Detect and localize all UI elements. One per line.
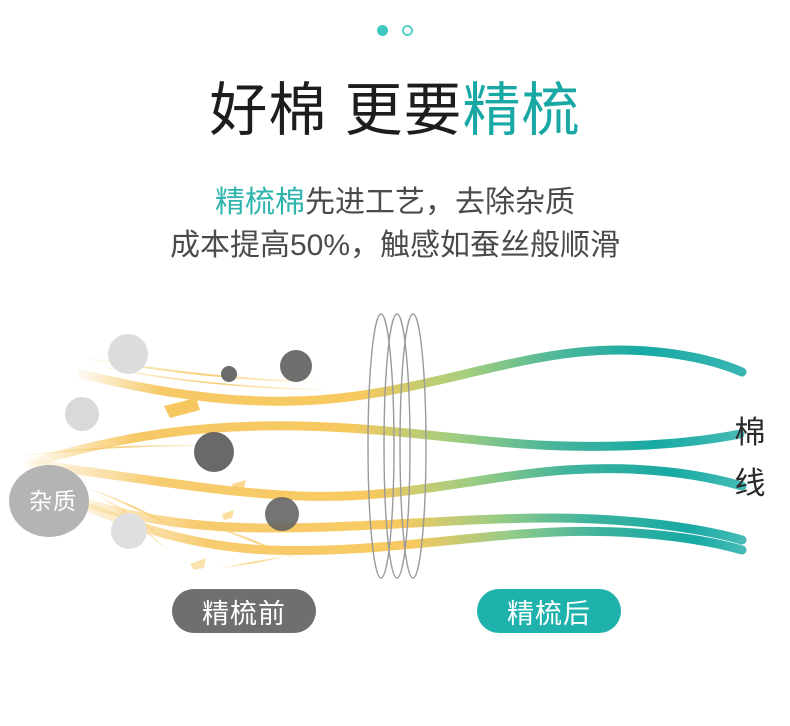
- impurity-dot-light-1: [108, 334, 148, 374]
- combing-ring-1: [368, 314, 394, 578]
- page-title-plain: 好棉 更要: [209, 78, 462, 143]
- cotton-thread-label: 棉 线: [728, 407, 772, 509]
- impurity-dot-light-2: [65, 397, 99, 431]
- label-before-combing: 精梳前: [172, 589, 316, 633]
- fiber-fleck-4: [190, 558, 206, 570]
- carousel-pagination[interactable]: [0, 25, 790, 36]
- carousel-dot-2[interactable]: [402, 25, 413, 36]
- page-title-accent: 精梳: [463, 78, 581, 143]
- page-subtitle: 精梳棉先进工艺，去除杂质 成本提高50%，触感如蚕丝般顺滑: [0, 181, 790, 267]
- fiber-fleck-3: [222, 510, 234, 520]
- impurity-dot-light-3: [111, 513, 147, 549]
- impurity-dot-dark-2: [280, 350, 312, 382]
- subtitle-accent: 精梳棉: [215, 186, 305, 219]
- wisp-8: [220, 556, 288, 568]
- impurity-dot-dark-1: [221, 366, 237, 382]
- subtitle-line-1-rest: 先进工艺，去除杂质: [305, 186, 575, 219]
- combing-ring-2: [384, 314, 410, 578]
- fiber-combing-illustration: [0, 296, 790, 596]
- impurity-dot-dark-3: [194, 432, 234, 472]
- combing-ring-3: [400, 314, 426, 578]
- combing-rings: [368, 314, 426, 578]
- subtitle-line-1: 精梳棉先进工艺，去除杂质: [0, 181, 790, 224]
- fiber-fleck-1: [164, 398, 200, 418]
- page-title: 好棉 更要精梳: [0, 76, 790, 146]
- label-after-combing: 精梳后: [477, 589, 621, 633]
- impurity-dot-dark-4: [265, 497, 299, 531]
- cotton-thread-label-char-2: 线: [728, 458, 772, 509]
- fiber-strand-3: [30, 464, 742, 496]
- cotton-thread-label-char-1: 棉: [728, 407, 772, 458]
- subtitle-line-2: 成本提高50%，触感如蚕丝般顺滑: [0, 224, 790, 267]
- fiber-strand-1: [82, 350, 742, 401]
- fiber-illustration-svg: [0, 296, 790, 596]
- carousel-dot-1[interactable]: [377, 25, 388, 36]
- impurity-bubble: [9, 465, 89, 537]
